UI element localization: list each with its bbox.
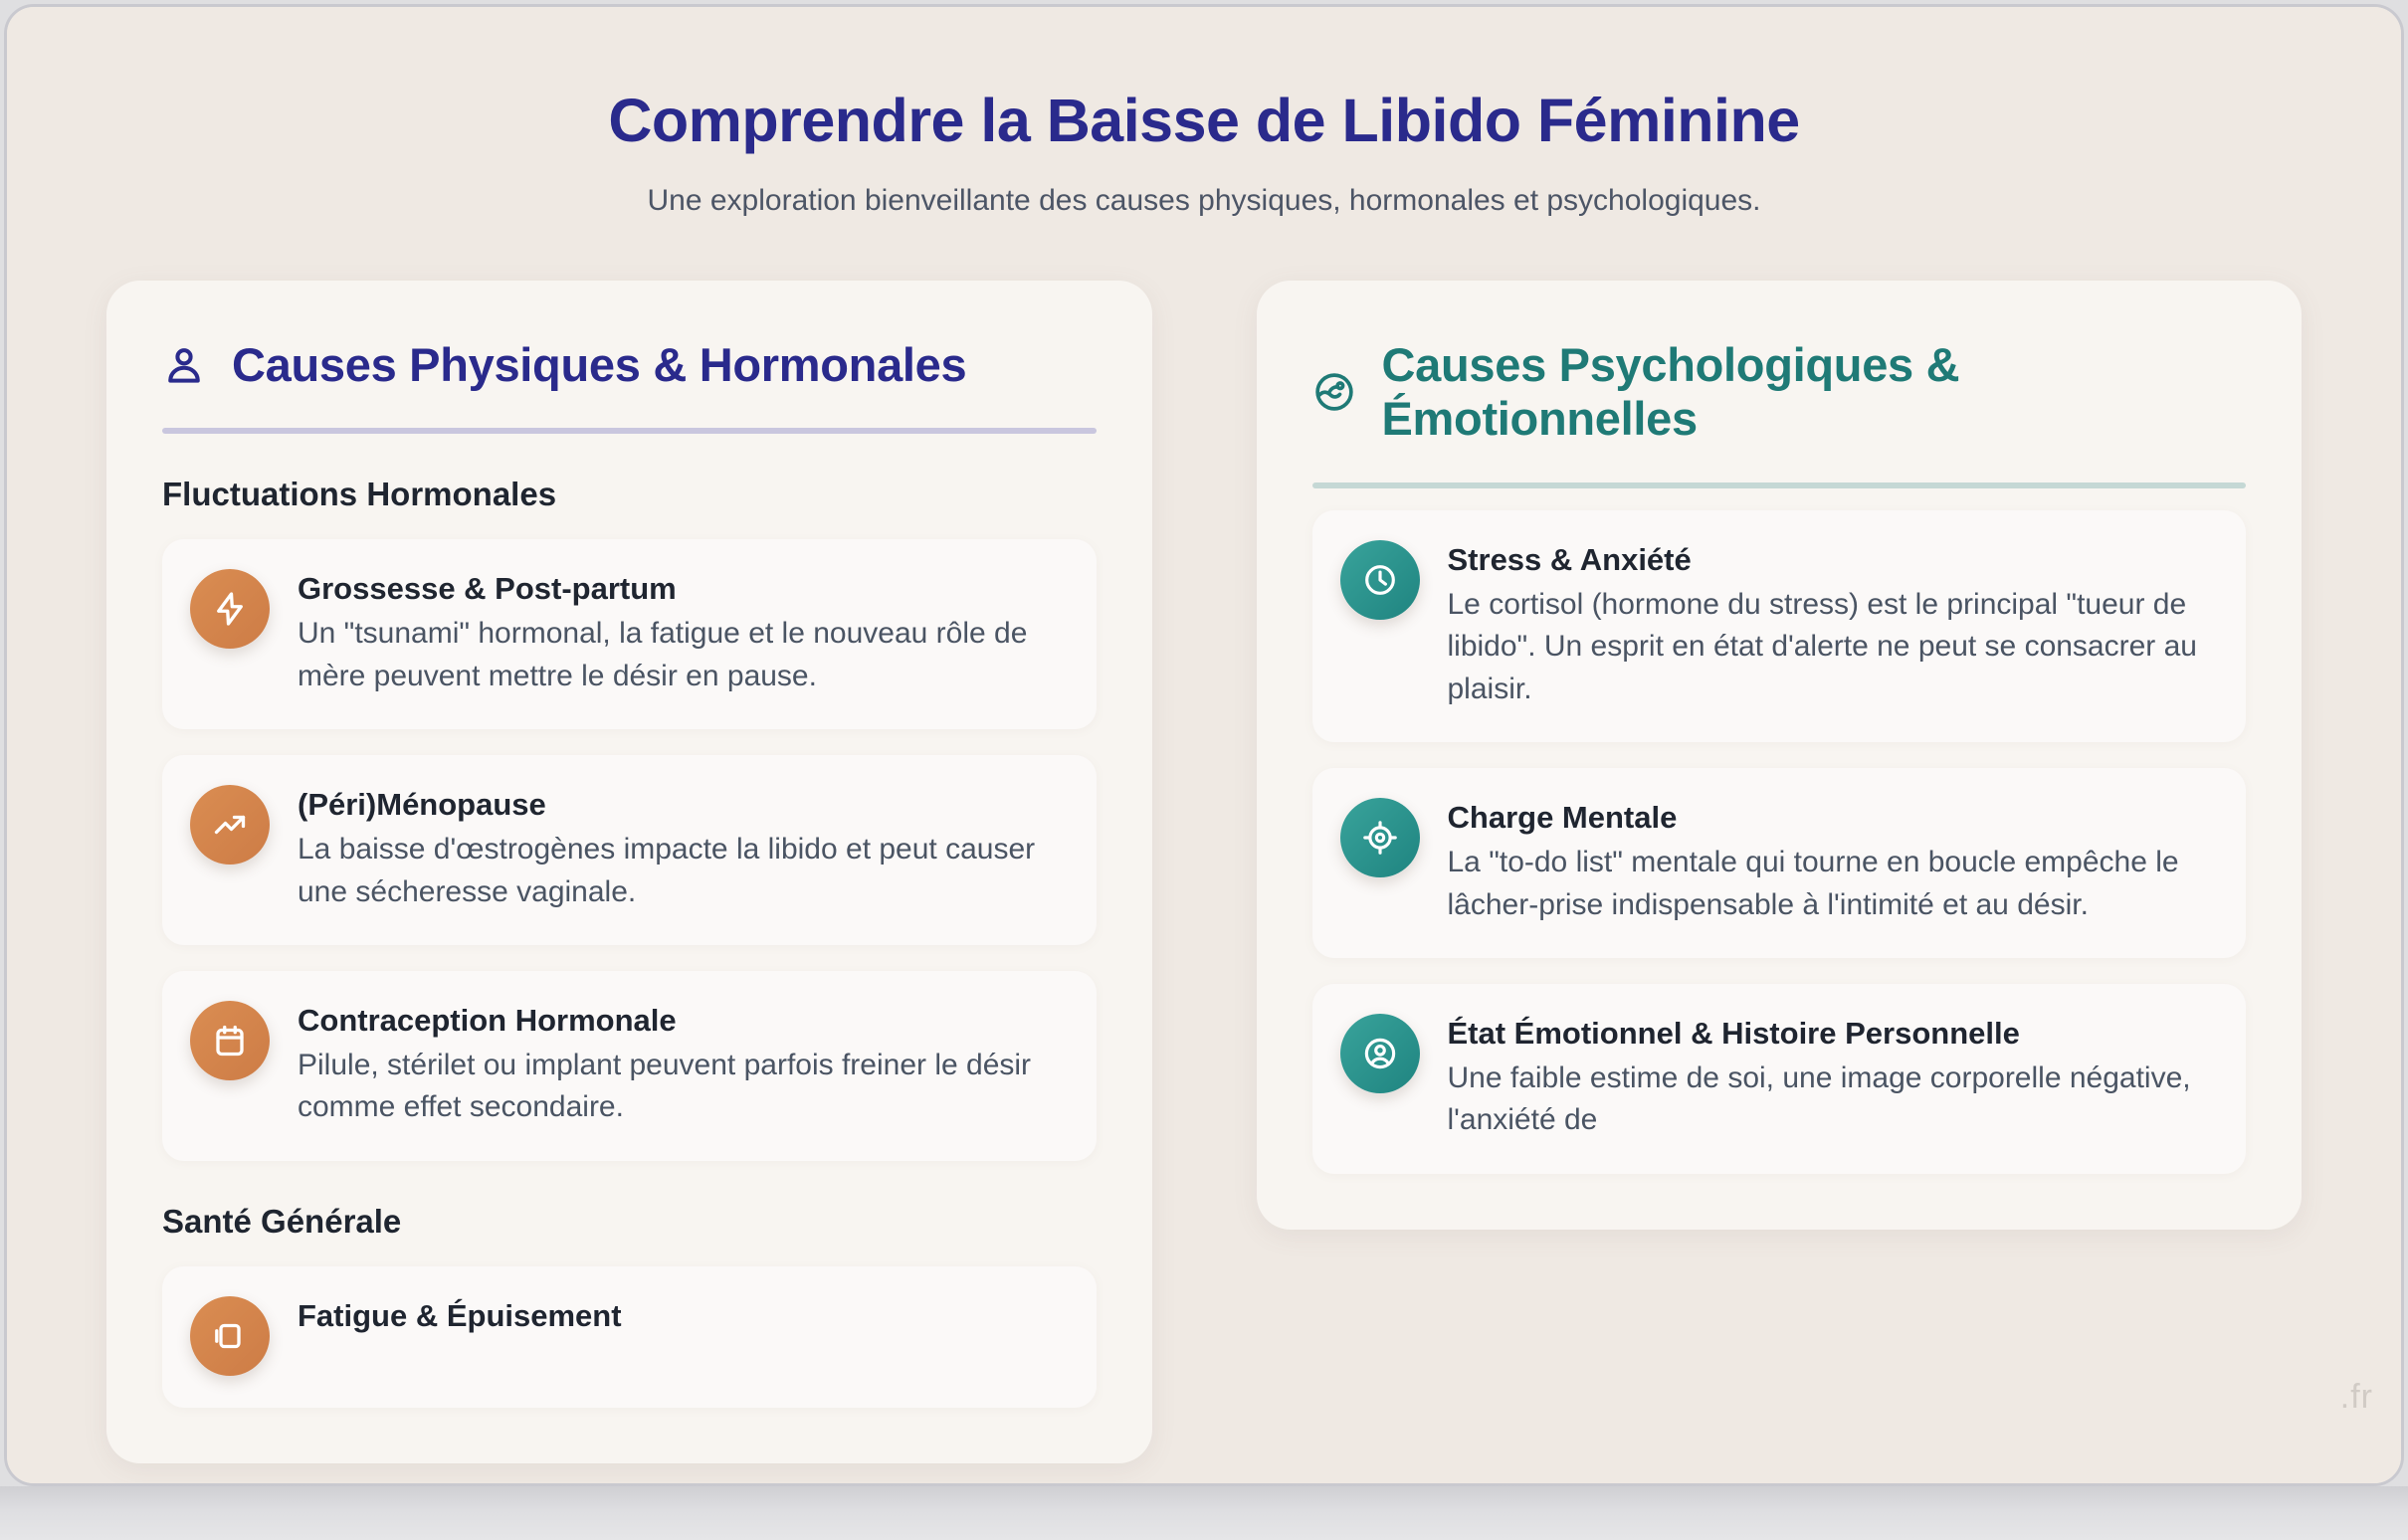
card-description: Un "tsunami" hormonal, la fatigue et le … bbox=[298, 613, 1065, 697]
panel-title-physical: Causes Physiques & Hormonales bbox=[232, 338, 966, 393]
card-body: Contraception Hormonale Pilule, stérilet… bbox=[298, 1001, 1065, 1129]
battery-icon bbox=[190, 1296, 270, 1376]
panel-header-psychological: Causes Psychologiques & Émotionnelles bbox=[1312, 338, 2247, 447]
card-contraception[interactable]: Contraception Hormonale Pilule, stérilet… bbox=[162, 971, 1097, 1161]
person-icon bbox=[162, 343, 206, 387]
card-description: Pilule, stérilet ou implant peuvent parf… bbox=[298, 1045, 1065, 1129]
panel-causes-physiques: Causes Physiques & Hormonales Fluctuatio… bbox=[106, 281, 1152, 1463]
card-title: Stress & Anxiété bbox=[1448, 540, 2215, 580]
card-description: Une faible estime de soi, une image corp… bbox=[1448, 1058, 2215, 1142]
bolt-icon bbox=[190, 569, 270, 649]
card-body: État Émotionnel & Histoire Personnelle U… bbox=[1448, 1014, 2215, 1142]
target-icon bbox=[1340, 798, 1420, 877]
card-title: État Émotionnel & Histoire Personnelle bbox=[1448, 1014, 2215, 1054]
card-body: Charge Mentale La "to-do list" mentale q… bbox=[1448, 798, 2215, 926]
card-fatigue[interactable]: Fatigue & Épuisement bbox=[162, 1266, 1097, 1408]
card-body: Grossesse & Post-partum Un "tsunami" hor… bbox=[298, 569, 1065, 697]
bottom-chrome-strip bbox=[0, 1486, 2408, 1540]
card-description: La baisse d'œstrogènes impacte la libido… bbox=[298, 829, 1065, 913]
card-stress[interactable]: Stress & Anxiété Le cortisol (hormone du… bbox=[1312, 510, 2247, 742]
brain-circle-icon bbox=[1312, 370, 1356, 414]
columns-container: Causes Physiques & Hormonales Fluctuatio… bbox=[7, 218, 2401, 1463]
card-title: (Péri)Ménopause bbox=[298, 785, 1065, 825]
user-circle-icon bbox=[1340, 1014, 1420, 1093]
section-title-sante-generale: Santé Générale bbox=[162, 1203, 1097, 1241]
card-etat-emotionnel[interactable]: État Émotionnel & Histoire Personnelle U… bbox=[1312, 984, 2247, 1174]
card-title: Contraception Hormonale bbox=[298, 1001, 1065, 1041]
page-subtitle: Une exploration bienveillante des causes… bbox=[7, 184, 2401, 218]
app-frame: Comprendre la Baisse de Libido Féminine … bbox=[4, 4, 2404, 1486]
calendar-icon bbox=[190, 1001, 270, 1080]
panel-causes-psychologiques: Causes Psychologiques & Émotionnelles bbox=[1257, 281, 2303, 1230]
card-body: (Péri)Ménopause La baisse d'œstrogènes i… bbox=[298, 785, 1065, 913]
panel-divider-physical bbox=[162, 428, 1097, 434]
card-description: La "to-do list" mentale qui tourne en bo… bbox=[1448, 842, 2215, 926]
card-description: Le cortisol (hormone du stress) est le p… bbox=[1448, 584, 2215, 711]
panel-header-physical: Causes Physiques & Hormonales bbox=[162, 338, 1097, 393]
screenshot-viewport: Comprendre la Baisse de Libido Féminine … bbox=[0, 0, 2408, 1540]
page-content: Comprendre la Baisse de Libido Féminine … bbox=[7, 7, 2401, 1483]
panel-title-psychological: Causes Psychologiques & Émotionnelles bbox=[1382, 338, 2247, 447]
card-body: Stress & Anxiété Le cortisol (hormone du… bbox=[1448, 540, 2215, 710]
card-title: Grossesse & Post-partum bbox=[298, 569, 1065, 609]
card-title: Charge Mentale bbox=[1448, 798, 2215, 838]
page-header: Comprendre la Baisse de Libido Féminine … bbox=[7, 7, 2401, 218]
page-title: Comprendre la Baisse de Libido Féminine bbox=[7, 89, 2401, 154]
card-charge-mentale[interactable]: Charge Mentale La "to-do list" mentale q… bbox=[1312, 768, 2247, 958]
section-title-fluctuations: Fluctuations Hormonales bbox=[162, 476, 1097, 513]
card-menopause[interactable]: (Péri)Ménopause La baisse d'œstrogènes i… bbox=[162, 755, 1097, 945]
card-title: Fatigue & Épuisement bbox=[298, 1296, 1065, 1336]
trending-up-icon bbox=[190, 785, 270, 865]
card-grossesse[interactable]: Grossesse & Post-partum Un "tsunami" hor… bbox=[162, 539, 1097, 729]
clock-icon bbox=[1340, 540, 1420, 620]
card-body: Fatigue & Épuisement bbox=[298, 1296, 1065, 1340]
